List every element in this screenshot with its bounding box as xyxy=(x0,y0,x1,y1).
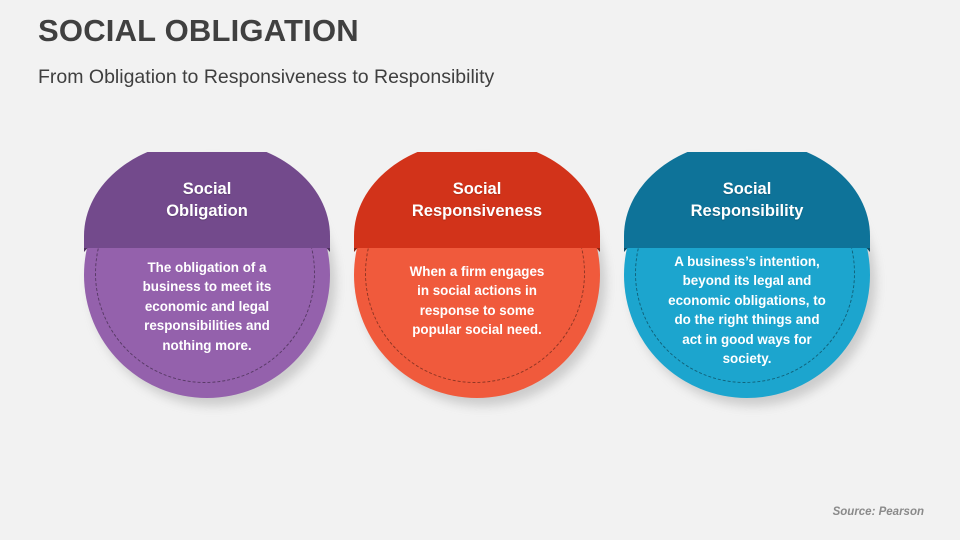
slide-header: SOCIAL OBLIGATION From Obligation to Res… xyxy=(38,14,898,88)
node-desc-line: response to some xyxy=(374,301,580,320)
node-title-line: Social xyxy=(84,178,330,200)
node-description: The obligation of a business to meet its… xyxy=(104,258,310,355)
node-title-line: Social xyxy=(354,178,600,200)
node-title-line: Responsibility xyxy=(624,200,870,222)
slide-canvas: SOCIAL OBLIGATION From Obligation to Res… xyxy=(0,0,960,540)
node-desc-line: do the right things and xyxy=(644,310,850,329)
node-desc-line: economic and legal xyxy=(104,297,310,316)
node-desc-line: society. xyxy=(644,349,850,368)
node-desc-line: When a firm engages xyxy=(374,262,580,281)
node-desc-line: nothing more. xyxy=(104,336,310,355)
three-stage-diagram: Social Obligation The obligation of a bu… xyxy=(0,152,960,422)
node-desc-line: in social actions in xyxy=(374,281,580,300)
node-title-line: Obligation xyxy=(84,200,330,222)
node-description: A business’s intention, beyond its legal… xyxy=(644,252,850,369)
diagram-node-social-responsiveness[interactable]: Social Responsiveness When a firm engage… xyxy=(354,152,606,404)
node-desc-line: beyond its legal and xyxy=(644,271,850,290)
node-desc-line: business to meet its xyxy=(104,277,310,296)
node-title-line: Social xyxy=(624,178,870,200)
page-title: SOCIAL OBLIGATION xyxy=(38,14,898,49)
node-desc-line: popular social need. xyxy=(374,320,580,339)
node-desc-line: responsibilities and xyxy=(104,316,310,335)
diagram-node-social-responsibility[interactable]: Social Responsibility A business’s inten… xyxy=(624,152,876,404)
source-attribution: Source: Pearson xyxy=(833,506,924,518)
node-description: When a firm engages in social actions in… xyxy=(374,262,580,340)
node-desc-line: The obligation of a xyxy=(104,258,310,277)
node-desc-line: economic obligations, to xyxy=(644,291,850,310)
page-subtitle: From Obligation to Responsiveness to Res… xyxy=(38,49,898,88)
node-title-line: Responsiveness xyxy=(354,200,600,222)
node-title: Social Responsibility xyxy=(624,178,870,222)
diagram-node-social-obligation[interactable]: Social Obligation The obligation of a bu… xyxy=(84,152,336,404)
node-desc-line: A business’s intention, xyxy=(644,252,850,271)
node-title: Social Responsiveness xyxy=(354,178,600,222)
node-title: Social Obligation xyxy=(84,178,330,222)
node-desc-line: act in good ways for xyxy=(644,330,850,349)
